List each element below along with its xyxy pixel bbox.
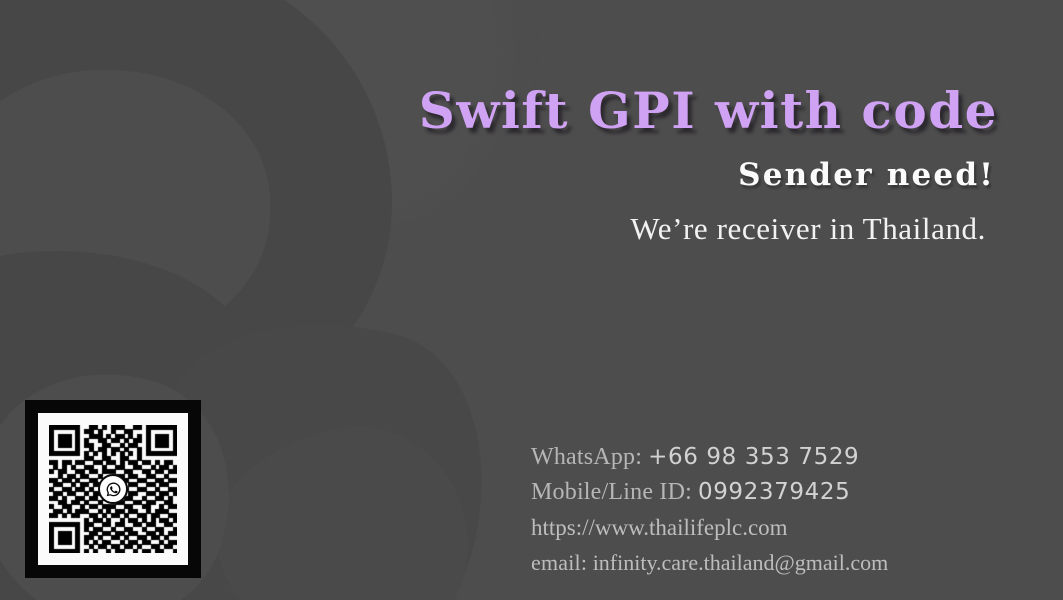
contact-line-mobile: Mobile/Line ID: 0992379425 [531,475,1001,510]
whatsapp-icon [98,474,128,504]
email-label: email: [531,550,587,575]
page-title: Swift GPI with code [0,82,998,140]
qr-panel [38,413,188,565]
whatsapp-qr-code[interactable] [25,400,201,578]
headline-tagline: We’re receiver in Thailand. [0,208,986,250]
headline-subtitle: Sender need! [0,155,995,195]
mobile-label: Mobile/Line ID: [531,479,692,505]
whatsapp-number[interactable]: +66 98 353 7529 [648,444,859,470]
contact-line-website[interactable]: https://www.thailifeplc.com [531,510,1001,545]
mobile-number[interactable]: 0992379425 [698,479,850,505]
business-card-canvas: Swift GPI with code Sender need! We’re r… [0,0,1063,600]
whatsapp-label: WhatsApp: [531,444,642,470]
contact-line-email: email: infinity.care.thailand@gmail.com [531,545,1001,580]
contact-block: WhatsApp: +66 98 353 7529 Mobile/Line ID… [531,440,1001,580]
contact-line-whatsapp: WhatsApp: +66 98 353 7529 [531,440,1001,475]
email-address[interactable]: infinity.care.thailand@gmail.com [593,550,889,575]
